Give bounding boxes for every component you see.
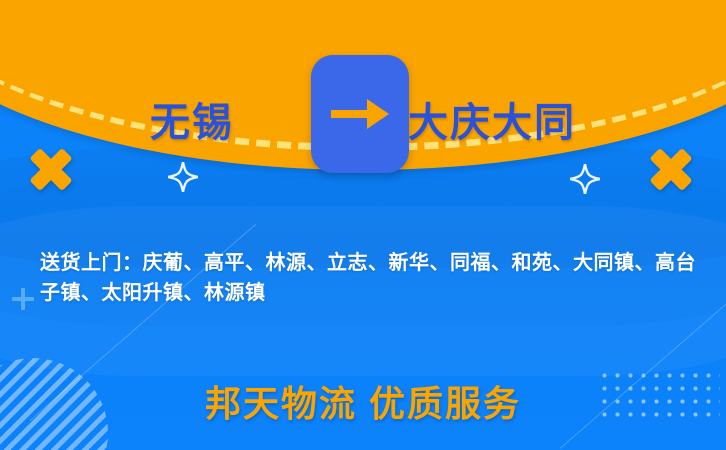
arrow-right-icon [329,93,391,135]
destination-city: 大庆大同 [408,103,576,143]
delivery-coverage-text: 送货上门：庆葡、高平、林源、立志、新华、同福、和苑、大同镇、高台子镇、太阳升镇、… [40,248,700,308]
cross-decoration-icon-left [28,146,74,192]
origin-city: 无锡 [150,103,234,143]
route-arrow-tile [311,55,409,173]
plus-decoration-icon [12,288,34,310]
company-slogan: 邦天物流 优质服务 [0,386,726,422]
cross-decoration-icon-right [648,146,694,192]
logistics-route-banner: 无锡 大庆大同 送货上门：庆葡、高平、林源、立志、新华、同福、和苑、大同镇、高台… [0,0,726,450]
